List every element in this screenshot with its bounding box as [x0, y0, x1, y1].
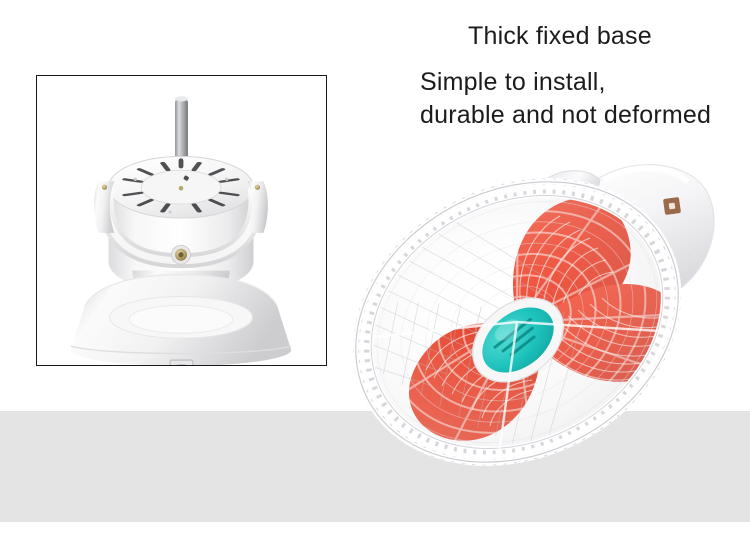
page-title: Thick fixed base	[468, 21, 652, 51]
subtitle-block: Simple to install, durable and not defor…	[420, 66, 711, 132]
subtitle-line-2: durable and not deformed	[420, 99, 711, 132]
motor-base-illustration	[37, 76, 326, 365]
pivot-screw	[172, 245, 191, 264]
subtitle-line-1: Simple to install,	[420, 66, 711, 99]
motor-top-rivet-right	[225, 178, 228, 181]
inset-photo-frame	[36, 75, 327, 366]
motor-body-rivet	[169, 211, 172, 214]
motor-top-screw	[179, 186, 184, 191]
orbit-fan-illustration	[342, 140, 750, 500]
yoke-screw-right	[255, 185, 260, 190]
yoke-screw-left	[102, 185, 107, 190]
thick-fixed-base	[71, 275, 291, 365]
motor-top-rivet-left	[134, 178, 137, 181]
product-feature-banner: Thick fixed base Simple to install, dura…	[0, 0, 750, 534]
base-mount-tab	[170, 360, 193, 365]
housing-screw	[663, 197, 681, 215]
